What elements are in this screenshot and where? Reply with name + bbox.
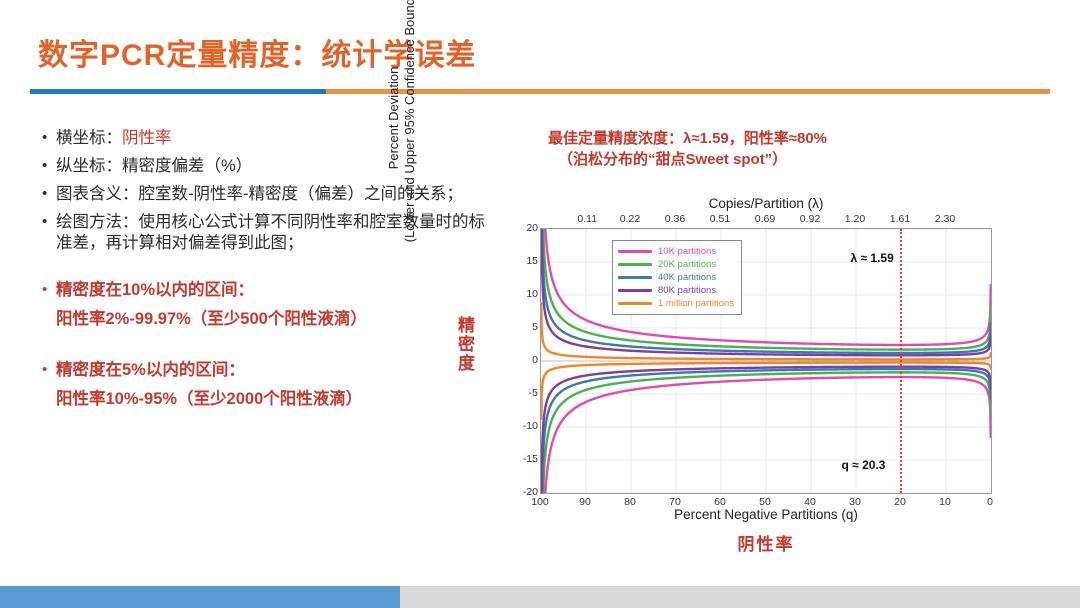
- sweet-spot-note: 最佳定量精度浓度：λ≈1.59，阳性率≈80% （泊松分布的“甜点Sweet s…: [548, 128, 968, 170]
- bullet-marker: •: [42, 156, 56, 176]
- bullet-label: 纵坐标：精密度偏差（%）: [56, 156, 252, 177]
- lambda-marker-line: [900, 229, 902, 493]
- y-axis-tick-label: 10: [518, 288, 538, 300]
- chart-figure: Copies/Partition (λ) Percent Deviation (…: [462, 196, 1022, 541]
- bullet-marker: •: [42, 280, 56, 300]
- bullet-detail: 阳性率10%-95%（至少2000个阳性液滴）: [42, 388, 492, 410]
- chart-curves: [541, 229, 991, 493]
- top-axis-tick-label: 0.51: [710, 213, 730, 225]
- slide: 数字PCR定量精度：统计学误差 • 横坐标：阴性率 • 纵坐标：精密度偏差（%）…: [0, 0, 1080, 608]
- bullet-heading: 精密度在10%以内的区间：: [56, 280, 254, 301]
- legend-label: 10K partitions: [658, 246, 716, 257]
- top-axis-tick-label: 2.30: [935, 213, 955, 225]
- legend-item: 40K partitions: [618, 271, 734, 284]
- lambda-annotation: λ ≈ 1.59: [851, 251, 894, 265]
- top-axis-tick-label: 0.22: [620, 213, 640, 225]
- y-axis-tick-label: -5: [518, 387, 538, 399]
- y-axis-chinese-label: 精密度: [452, 316, 477, 373]
- y-axis-tick-label: -10: [518, 420, 538, 432]
- q-annotation: q ≈ 20.3: [842, 458, 886, 472]
- red-note-group-2: • 精密度在5%以内的区间： 阳性率10%-95%（至少2000个阳性液滴）: [42, 360, 492, 410]
- top-axis-tick-label: 0.11: [577, 213, 597, 225]
- footer-bar: [0, 586, 1080, 608]
- top-axis-tick-label: 0.36: [665, 213, 685, 225]
- y-axis-tick-label: 15: [518, 255, 538, 267]
- y-axis-title-line2: (Lower and Upper 95% Confidence Bound): [402, 0, 418, 248]
- y-axis-tick-label: 0: [518, 354, 538, 366]
- chart-legend: 10K partitions 20K partitions 40K partit…: [612, 240, 742, 315]
- list-item: • 绘图方法：使用核心公式计算不同阴性率和腔室数量时的标准差，再计算相对偏差得到…: [42, 212, 492, 254]
- legend-swatch: [618, 289, 652, 292]
- list-item: • 横坐标：阴性率: [42, 128, 492, 149]
- legend-swatch: [618, 250, 652, 253]
- legend-label: 20K partitions: [658, 259, 716, 270]
- legend-item: 1 million partitions: [618, 297, 734, 310]
- top-axis-tick-label: 0.92: [800, 213, 820, 225]
- red-note-group-1: • 精密度在10%以内的区间： 阳性率2%-99.97%（至少500个阳性液滴）: [42, 280, 492, 330]
- divider-orange-segment: [326, 89, 1050, 94]
- sweet-spot-note-line1: 最佳定量精度浓度：λ≈1.59，阳性率≈80%: [548, 128, 968, 149]
- bullet-label: 绘图方法：使用核心公式计算不同阴性率和腔室数量时的标准差，再计算相对偏差得到此图…: [56, 212, 492, 254]
- list-item: • 纵坐标：精密度偏差（%）: [42, 156, 492, 177]
- chart-top-axis-title: Copies/Partition (λ): [540, 196, 992, 211]
- list-item: • 精密度在5%以内的区间：: [42, 360, 492, 381]
- y-axis-tick-label: -15: [518, 453, 538, 465]
- bullet-marker: •: [42, 360, 56, 380]
- legend-label: 80K partitions: [658, 285, 716, 296]
- top-axis-tick-label: 0.69: [755, 213, 775, 225]
- y-axis-tick-label: 5: [518, 321, 538, 333]
- divider-blue-segment: [30, 89, 326, 94]
- top-axis-tick-label: 1.20: [845, 213, 865, 225]
- legend-label: 40K partitions: [658, 272, 716, 283]
- y-axis-title-line1: Percent Deviation: [386, 0, 402, 248]
- bullet-highlight: 阴性率: [122, 129, 172, 147]
- legend-swatch: [618, 276, 652, 279]
- bullet-marker: •: [42, 128, 56, 148]
- legend-item: 10K partitions: [618, 245, 734, 258]
- y-axis-tick-label: 20: [518, 222, 538, 234]
- chart-x-axis-title: Percent Negative Partitions (q): [540, 507, 992, 522]
- chart-y-axis-title: Percent Deviation (Lower and Upper 95% C…: [386, 0, 418, 248]
- bullet-detail: 阳性率2%-99.97%（至少500个阳性液滴）: [42, 308, 492, 330]
- top-axis-tick-label: 1.61: [890, 213, 910, 225]
- bullet-marker: •: [42, 212, 56, 232]
- x-axis-chinese-label: 阴性率: [540, 530, 992, 555]
- legend-item: 80K partitions: [618, 284, 734, 297]
- list-item: • 图表含义：腔室数-阴性率-精密度（偏差）之间的关系；: [42, 184, 492, 205]
- legend-swatch: [618, 263, 652, 266]
- bullet-label: 横坐标：: [56, 129, 122, 147]
- bullet-list: • 横坐标：阴性率 • 纵坐标：精密度偏差（%） • 图表含义：腔室数-阴性率-…: [42, 128, 492, 410]
- legend-label: 1 million partitions: [658, 298, 734, 309]
- y-axis-tick-label: -20: [518, 486, 538, 498]
- title-divider: [30, 89, 1050, 94]
- sweet-spot-note-line2: （泊松分布的“甜点Sweet spot”）: [548, 149, 968, 170]
- chart-plot-area: [540, 228, 992, 494]
- footer-bar-blue: [0, 586, 400, 608]
- bullet-heading: 精密度在5%以内的区间：: [56, 360, 245, 381]
- bullet-marker: •: [42, 184, 56, 204]
- legend-swatch: [618, 302, 652, 305]
- legend-item: 20K partitions: [618, 258, 734, 271]
- list-item: • 精密度在10%以内的区间：: [42, 280, 492, 301]
